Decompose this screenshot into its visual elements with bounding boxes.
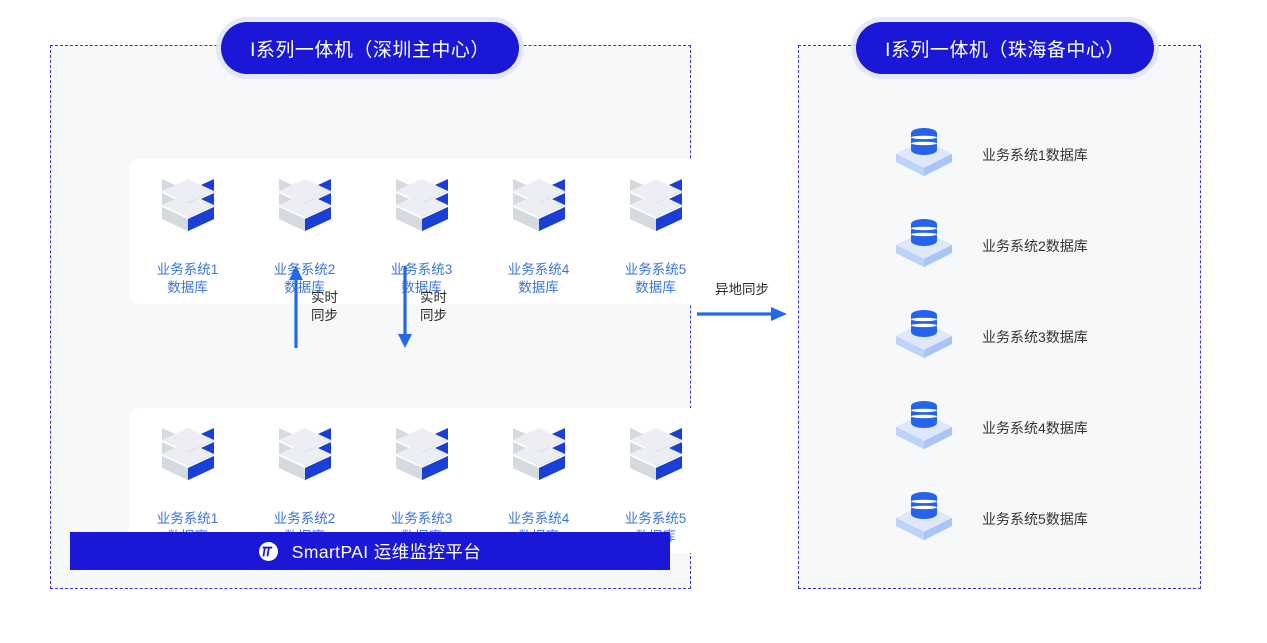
server-node-label: 业务系统4 数据库: [508, 261, 570, 297]
server-node[interactable]: 业务系统4 数据库: [487, 422, 591, 546]
remote-sync-group: 异地同步: [690, 278, 794, 327]
database-platform-icon: [892, 215, 956, 278]
server-node[interactable]: 业务系统4 数据库: [487, 173, 591, 297]
database-row[interactable]: 业务系统2数据库: [892, 215, 1192, 277]
arrow-right-icon: [697, 306, 787, 327]
server-node[interactable]: 业务系统1 数据库: [136, 422, 240, 546]
database-row[interactable]: 业务系统3数据库: [892, 306, 1192, 368]
server-node-label: 业务系统5 数据库: [625, 261, 687, 297]
database-row[interactable]: 业务系统1数据库: [892, 124, 1192, 186]
server-stack-icon: [158, 422, 218, 501]
server-node[interactable]: 业务系统3 数据库: [370, 422, 474, 546]
database-row-label: 业务系统4数据库: [982, 418, 1088, 438]
smartpai-logo-icon: [259, 542, 278, 561]
smartpai-platform-bar[interactable]: SmartPAI 运维监控平台: [70, 532, 670, 570]
database-platform-icon: [892, 397, 956, 460]
arrow-down-icon: [397, 266, 413, 348]
database-platform-icon: [892, 306, 956, 369]
realtime-sync-up-label: 实时 同步: [311, 289, 338, 325]
arrow-up-icon: [288, 266, 304, 348]
server-node[interactable]: 业务系统5 数据库: [604, 422, 708, 546]
server-stack-icon: [275, 422, 335, 501]
realtime-sync-up-group: 实时 同步: [288, 266, 338, 348]
database-row-label: 业务系统1数据库: [982, 145, 1088, 165]
smartpai-platform-label: SmartPAI 运维监控平台: [292, 539, 481, 564]
server-stack-icon: [158, 173, 218, 252]
server-stack-icon: [626, 422, 686, 501]
remote-sync-label: 异地同步: [715, 278, 769, 298]
backup-center-title: I系列一体机（珠海备中心）: [856, 22, 1154, 74]
backup-database-list: 业务系统1数据库: [806, 108, 1196, 563]
server-stack-icon: [509, 422, 569, 501]
database-platform-icon: [892, 124, 956, 187]
database-row[interactable]: 业务系统5数据库: [892, 488, 1192, 550]
server-stack-icon: [626, 173, 686, 252]
realtime-sync-down-group: 实时 同步: [397, 266, 447, 348]
realtime-sync-down-label: 实时 同步: [420, 289, 447, 325]
server-stack-icon: [392, 422, 452, 501]
server-node-label: 业务系统1 数据库: [157, 261, 219, 297]
database-row-label: 业务系统3数据库: [982, 327, 1088, 347]
database-row[interactable]: 业务系统4数据库: [892, 397, 1192, 459]
diagram-canvas: 业务系统1 数据库 业务系统2 数据库: [0, 0, 1267, 643]
server-node[interactable]: 业务系统2 数据库: [253, 422, 357, 546]
primary-center-title: I系列一体机（深圳主中心）: [221, 22, 519, 74]
database-row-label: 业务系统2数据库: [982, 236, 1088, 256]
server-stack-icon: [509, 173, 569, 252]
server-stack-icon: [392, 173, 452, 252]
database-row-label: 业务系统5数据库: [982, 509, 1088, 529]
primary-center-panel: 业务系统1 数据库 业务系统2 数据库: [50, 45, 691, 589]
server-node[interactable]: 业务系统1 数据库: [136, 173, 240, 297]
database-platform-icon: [892, 488, 956, 551]
server-stack-icon: [275, 173, 335, 252]
